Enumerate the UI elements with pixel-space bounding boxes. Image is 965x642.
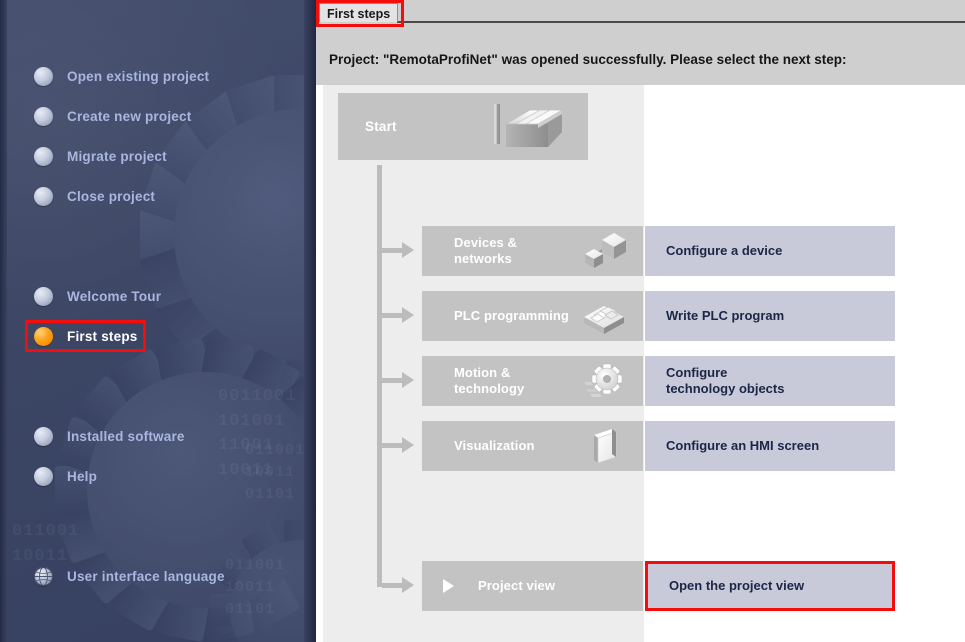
flow-row-label-text: Motion &technology	[454, 365, 524, 398]
sidebar-item-first-steps[interactable]: First steps	[28, 323, 143, 349]
flow-row-devices-networks: Devices &networks Configure a device	[316, 226, 895, 276]
sidebar-item-label: Installed software	[67, 429, 185, 444]
bullet-icon-active	[34, 327, 53, 346]
flow-row-label-text: Devices &networks	[454, 235, 517, 268]
flow-row-label-motion-technology[interactable]: Motion &technology	[422, 356, 643, 406]
tab-strip-rule	[397, 21, 965, 23]
sidebar-item-create-new-project[interactable]: Create new project	[28, 103, 197, 129]
flow-arrow-icon	[382, 313, 410, 318]
flow-arrow-icon	[382, 378, 410, 383]
visualization-icon	[581, 426, 627, 466]
sidebar-item-open-existing-project[interactable]: Open existing project	[28, 63, 215, 89]
sidebar-item-label: Welcome Tour	[67, 289, 161, 304]
sidebar-item-help[interactable]: Help	[28, 463, 103, 489]
bullet-icon	[34, 467, 53, 486]
sidebar-item-label: First steps	[67, 329, 137, 344]
sidebar-item-user-interface-language[interactable]: User interface language	[28, 563, 231, 589]
flow-row-project-view: Project viewOpen the project view	[316, 561, 895, 611]
flow-row-action-motion-technology[interactable]: Configuretechnology objects	[645, 356, 895, 406]
flow-row-label-devices-networks[interactable]: Devices &networks	[422, 226, 643, 276]
first-steps-portal-screen: 0011001 101001 11001 10011 011001 10011 …	[0, 0, 965, 642]
bullet-icon	[34, 427, 53, 446]
sidebar: 0011001 101001 11001 10011 011001 10011 …	[0, 0, 316, 642]
play-triangle-icon	[443, 579, 454, 593]
tab-highlight-box	[316, 0, 404, 27]
flow-row-action-text: Configure an HMI screen	[666, 438, 819, 454]
tab-strip: First steps	[316, 0, 965, 37]
flow-row-label-project-view[interactable]: Project view	[422, 561, 643, 611]
devices-networks-icon	[581, 231, 627, 271]
sidebar-item-installed-software[interactable]: Installed software	[28, 423, 191, 449]
flow-row-label-visualization[interactable]: Visualization	[422, 421, 643, 471]
motion-technology-icon	[581, 361, 627, 401]
sidebar-item-label: Create new project	[67, 109, 191, 124]
flow-arrow-icon	[382, 443, 410, 448]
flow-row-label-plc-programming[interactable]: PLC programming	[422, 291, 643, 341]
flow-row-action-text: Configuretechnology objects	[666, 365, 784, 398]
factory-icon	[490, 102, 568, 152]
flow-row-action-text: Write PLC program	[666, 308, 784, 324]
bullet-icon	[34, 107, 53, 126]
sidebar-item-label: Migrate project	[67, 149, 167, 164]
flow-row-action-text: Open the project view	[669, 578, 804, 594]
flow-row-action-devices-networks[interactable]: Configure a device	[645, 226, 895, 276]
flow-arrow-icon	[382, 583, 410, 588]
sidebar-item-label: Close project	[67, 189, 155, 204]
flow-canvas: Start	[316, 85, 965, 642]
sidebar-item-label: User interface language	[67, 569, 225, 584]
bullet-icon	[34, 287, 53, 306]
status-message: Project: "RemotaProfiNet" was opened suc…	[329, 52, 846, 67]
globe-icon	[34, 567, 53, 586]
sidebar-item-label: Open existing project	[67, 69, 209, 84]
sidebar-right-edge	[304, 0, 316, 642]
flow-row-action-plc-programming[interactable]: Write PLC program	[645, 291, 895, 341]
sidebar-item-label: Help	[67, 469, 97, 484]
flow-row-label-text: Visualization	[454, 438, 535, 454]
flow-row-motion-technology: Motion &technology Configuretechnology o…	[316, 356, 895, 406]
bullet-icon	[34, 147, 53, 166]
flow-row-action-text: Configure a device	[666, 243, 782, 259]
plc-programming-icon	[581, 296, 627, 336]
sidebar-item-migrate-project[interactable]: Migrate project	[28, 143, 173, 169]
flow-arrow-icon	[382, 248, 410, 253]
sidebar-item-close-project[interactable]: Close project	[28, 183, 161, 209]
sidebar-menu: Open existing projectCreate new projectM…	[0, 0, 304, 642]
main-panel: First steps Project: "RemotaProfiNet" wa…	[316, 0, 965, 642]
bullet-icon	[34, 187, 53, 206]
flow-row-label-text: Project view	[478, 578, 555, 594]
flow-row-plc-programming: PLC programming Write PLC program	[316, 291, 895, 341]
flow-row-label-text: PLC programming	[454, 308, 569, 324]
flow-row-action-visualization[interactable]: Configure an HMI screen	[645, 421, 895, 471]
sidebar-item-welcome-tour[interactable]: Welcome Tour	[28, 283, 167, 309]
flow-row-visualization: Visualization Configure an HMI screen	[316, 421, 895, 471]
flow-row-action-project-view[interactable]: Open the project view	[645, 561, 895, 611]
header-band: Project: "RemotaProfiNet" was opened suc…	[316, 37, 965, 85]
bullet-icon	[34, 67, 53, 86]
start-block[interactable]: Start	[338, 93, 588, 160]
start-block-label: Start	[365, 119, 397, 134]
